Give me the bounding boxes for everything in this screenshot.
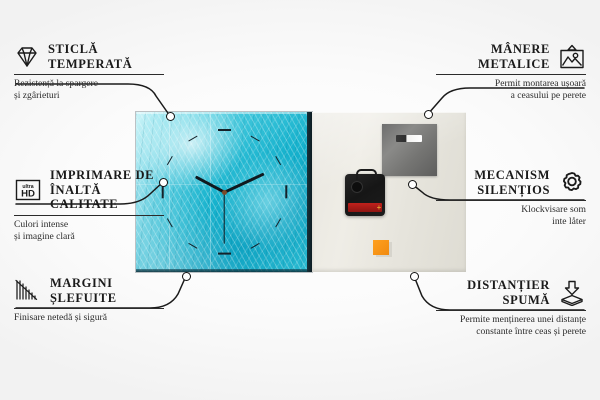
title-line-2: METALICE (478, 57, 550, 72)
clock-tick (218, 253, 231, 255)
picture-frame-icon (558, 44, 586, 70)
mechanism-hanging-loop (356, 169, 377, 180)
callout-subtitle: Permit montarea ușoară a ceasului pe per… (436, 78, 586, 103)
callout-title: DISTANȚIER SPUMĂ (467, 278, 550, 307)
subtitle-line-2: a ceasului pe perete (436, 90, 586, 102)
subtitle-line-1: Culori intense (14, 219, 164, 231)
callout-subtitle: Permite menținerea unei distanțe constan… (436, 314, 586, 339)
title-line-2: TEMPERATĂ (48, 57, 132, 72)
ultra-hd-icon: ultra HD (14, 178, 42, 202)
subtitle-line-1: Finisare netedă și sigură (14, 312, 164, 324)
callout-subtitle: Finisare netedă și sigură (14, 312, 164, 324)
callout-silent-mechanism: MECANISM SILENȚIOS Klockvisare som inte … (436, 168, 586, 229)
callout-title: MÂNERE METALICE (478, 42, 550, 71)
callout-header: MECANISM SILENȚIOS (436, 168, 586, 197)
marker-metal-handles (424, 110, 433, 119)
subtitle-line-2: constante între ceas și perete (436, 326, 586, 338)
foam-spacer-pad (373, 240, 389, 255)
callout-header: MARGINI ȘLEFUITE (14, 276, 164, 305)
callout-title: STICLĂ TEMPERATĂ (48, 42, 132, 71)
title-line-1: DISTANȚIER (467, 278, 550, 293)
callout-header: STICLĂ TEMPERATĂ (14, 42, 164, 71)
marker-silent-mechanism (408, 180, 417, 189)
marker-foam-spacer (410, 272, 419, 281)
title-line-1: MARGINI (50, 276, 117, 291)
clock-tick (218, 129, 231, 131)
callout-subtitle: Klockvisare som inte låter (436, 204, 586, 229)
title-line-1: IMPRIMARE DE (50, 168, 164, 183)
title-line-2: ȘLEFUITE (50, 291, 117, 306)
marker-tempered-glass (166, 112, 175, 121)
title-line-2: SILENȚIOS (474, 183, 550, 198)
clock-tick (285, 185, 287, 198)
clock-edge-top (136, 112, 312, 114)
glass-seam-line (169, 112, 170, 272)
hanger-slot (396, 135, 422, 142)
hatched-triangle-icon (14, 279, 42, 303)
infographic-stage: + (0, 0, 600, 400)
mechanism-gear-detail (351, 181, 363, 193)
battery-plus-sign: + (376, 205, 382, 211)
callout-rule (14, 74, 164, 75)
callout-subtitle: Culori intense și imagine clară (14, 219, 164, 244)
callout-subtitle: Rezistență la spargere și zgârieturi (14, 78, 164, 103)
clock-edge-bottom (136, 269, 312, 272)
callout-foam-spacer: DISTANȚIER SPUMĂ Permite menținerea unei… (436, 278, 586, 339)
down-arrow-stack-icon (558, 280, 586, 306)
callout-high-quality-print: ultra HD IMPRIMARE DE ÎNALTĂ CALITATE Cu… (14, 168, 164, 243)
clock-second-hand (223, 192, 224, 244)
callout-title: MARGINI ȘLEFUITE (50, 276, 117, 305)
subtitle-line-2: și imagine clară (14, 231, 164, 243)
title-line-2: SPUMĂ (467, 293, 550, 308)
subtitle-line-1: Rezistență la spargere (14, 78, 164, 90)
subtitle-line-2: și zgârieturi (14, 90, 164, 102)
callout-header: MÂNERE METALICE (436, 42, 586, 71)
title-line-2: ÎNALTĂ CALITATE (50, 183, 164, 212)
subtitle-line-1: Permit montarea ușoară (436, 78, 586, 90)
callout-rule (14, 308, 164, 309)
title-line-1: MECANISM (474, 168, 550, 183)
clock-center-hub (222, 190, 227, 195)
callout-rule (436, 200, 586, 201)
subtitle-line-2: inte låter (436, 216, 586, 228)
callout-title: IMPRIMARE DE ÎNALTĂ CALITATE (50, 168, 164, 212)
gear-icon (558, 170, 586, 196)
glass-seam-line-2 (210, 112, 211, 272)
title-line-1: MÂNERE (478, 42, 550, 57)
clock-mechanism: + (345, 174, 385, 216)
callout-header: DISTANȚIER SPUMĂ (436, 278, 586, 307)
callout-rule (14, 215, 164, 216)
callout-polished-edges: MARGINI ȘLEFUITE Finisare netedă și sigu… (14, 276, 164, 324)
subtitle-line-1: Klockvisare som (436, 204, 586, 216)
product-image: + (136, 112, 466, 272)
callout-rule (436, 74, 586, 75)
callout-title: MECANISM SILENȚIOS (474, 168, 550, 197)
title-line-1: STICLĂ (48, 42, 132, 57)
callout-rule (436, 310, 586, 311)
diamond-icon (14, 45, 40, 69)
marker-polished-edges (182, 272, 191, 281)
icon-hd-label: HD (21, 188, 35, 199)
callout-tempered-glass: STICLĂ TEMPERATĂ Rezistență la spargere … (14, 42, 164, 103)
subtitle-line-1: Permite menținerea unei distanțe (436, 314, 586, 326)
callout-header: ultra HD IMPRIMARE DE ÎNALTĂ CALITATE (14, 168, 164, 212)
callout-metal-handles: MÂNERE METALICE Permit montarea ușoară a… (436, 42, 586, 103)
metal-hanger-plate (382, 124, 437, 176)
